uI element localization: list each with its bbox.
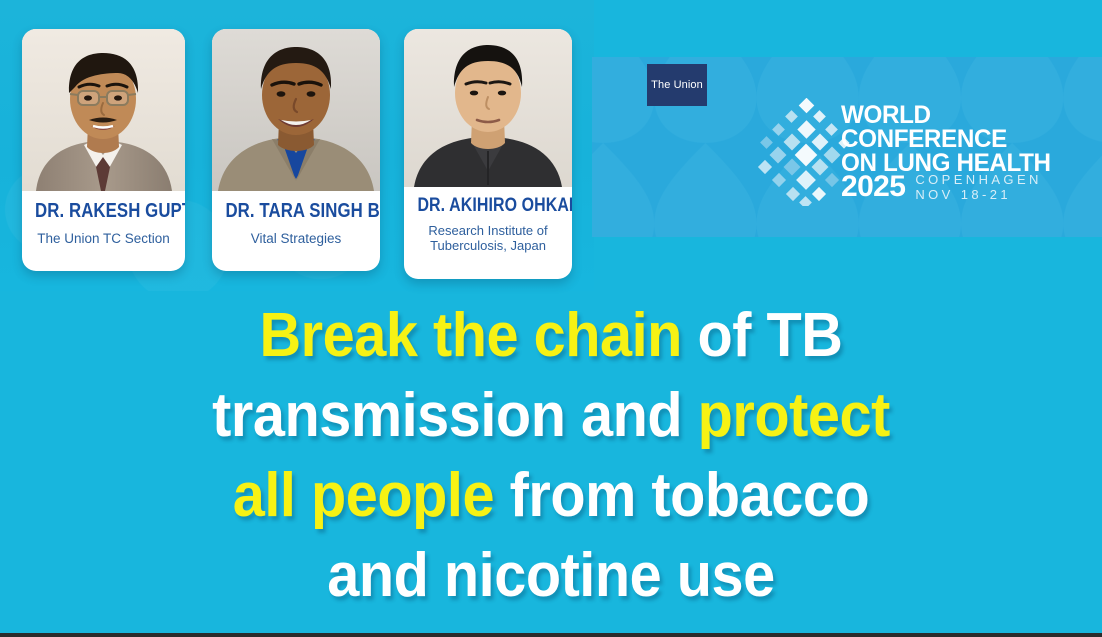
speaker-affiliation: Research Institute of Tuberculosis, Japa… — [404, 223, 572, 254]
conference-year: 2025 — [841, 172, 905, 202]
headline-plain: of TB — [682, 301, 843, 370]
union-logo-label: The Union — [651, 79, 703, 91]
speaker-name: DR. TARA SINGH BAM — [225, 200, 366, 223]
speaker-photo — [212, 29, 380, 191]
headline-highlight: Break the chain — [260, 301, 682, 370]
diamond-grid-icon — [755, 98, 851, 206]
conference-logo: WORLD CONFERENCE ON LUNG HEALTH 2025 COP… — [755, 98, 1095, 208]
headline-line-4: and nicotine use — [39, 536, 1064, 616]
headline-line-2: transmission and protect — [39, 376, 1064, 456]
speaker-name: DR. AKIHIRO OHKADO — [417, 195, 558, 217]
headline-line-1: Break the chain of TB — [39, 296, 1064, 376]
speaker-card[interactable]: DR. AKIHIRO OHKADO Research Institute of… — [404, 29, 572, 279]
conference-city: COPENHAGEN — [915, 173, 1041, 188]
speaker-photo — [22, 29, 185, 191]
speaker-affiliation: Vital Strategies — [212, 231, 380, 247]
conference-title-line1: WORLD — [841, 103, 1051, 127]
speaker-name: DR. RAKESH GUPTA — [35, 200, 172, 223]
speaker-card[interactable]: DR. RAKESH GUPTA The Union TC Section — [22, 29, 185, 271]
headline-line-3: all people from tobacco — [39, 456, 1064, 536]
conference-meta: 2025 COPENHAGEN NOV 18-21 — [841, 172, 1042, 203]
headline-highlight: protect — [698, 381, 890, 450]
speaker-card-list: DR. RAKESH GUPTA The Union TC Section — [0, 0, 594, 291]
conference-location: COPENHAGEN NOV 18-21 — [915, 173, 1041, 203]
headline-plain: from tobacco — [494, 461, 869, 530]
union-logo: The Union — [647, 64, 707, 106]
conference-title: WORLD CONFERENCE ON LUNG HEALTH — [841, 103, 1057, 175]
speaker-card[interactable]: DR. TARA SINGH BAM Vital Strategies — [212, 29, 380, 271]
headline-plain: transmission and — [212, 381, 698, 450]
conference-dates: NOV 18-21 — [915, 188, 1041, 203]
headline: Break the chain of TB transmission and p… — [0, 296, 1102, 616]
speaker-photo — [404, 29, 572, 187]
bottom-strip — [0, 633, 1102, 637]
conference-title-line2: CONFERENCE — [841, 127, 1051, 151]
slide-canvas: DR. RAKESH GUPTA The Union TC Section — [0, 0, 1102, 637]
headline-plain: and nicotine use — [327, 541, 775, 610]
headline-highlight: all people — [233, 461, 494, 530]
speaker-affiliation: The Union TC Section — [22, 231, 185, 247]
